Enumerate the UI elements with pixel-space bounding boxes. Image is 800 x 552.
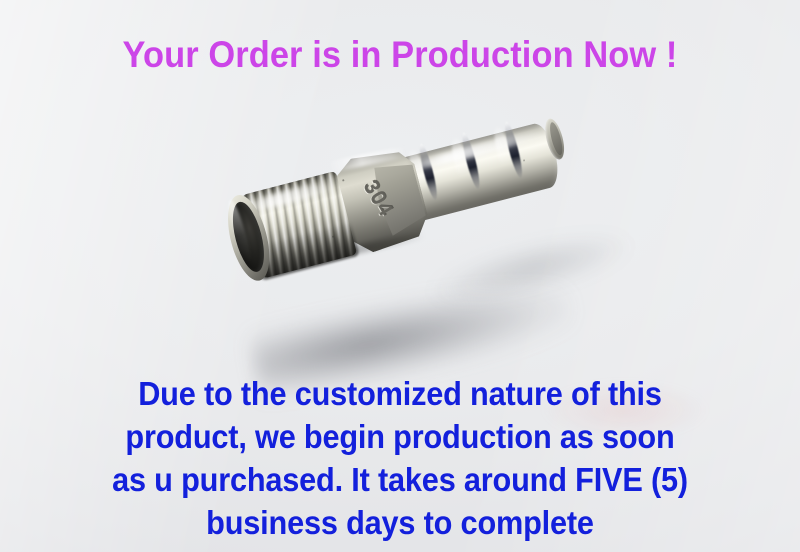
note-line: as u purchased. It takes around FIVE (5) <box>28 458 772 501</box>
promo-image-canvas: Your Order is in Production Now ! 304 <box>0 0 800 552</box>
headline-order-in-production: Your Order is in Production Now ! <box>28 36 772 75</box>
production-lead-time-note: Due to the customized nature of this pro… <box>0 372 800 544</box>
note-line: Due to the customized nature of this <box>28 372 772 415</box>
note-line: product, we begin production as soon <box>28 415 772 458</box>
note-line: business days to complete <box>28 501 772 544</box>
